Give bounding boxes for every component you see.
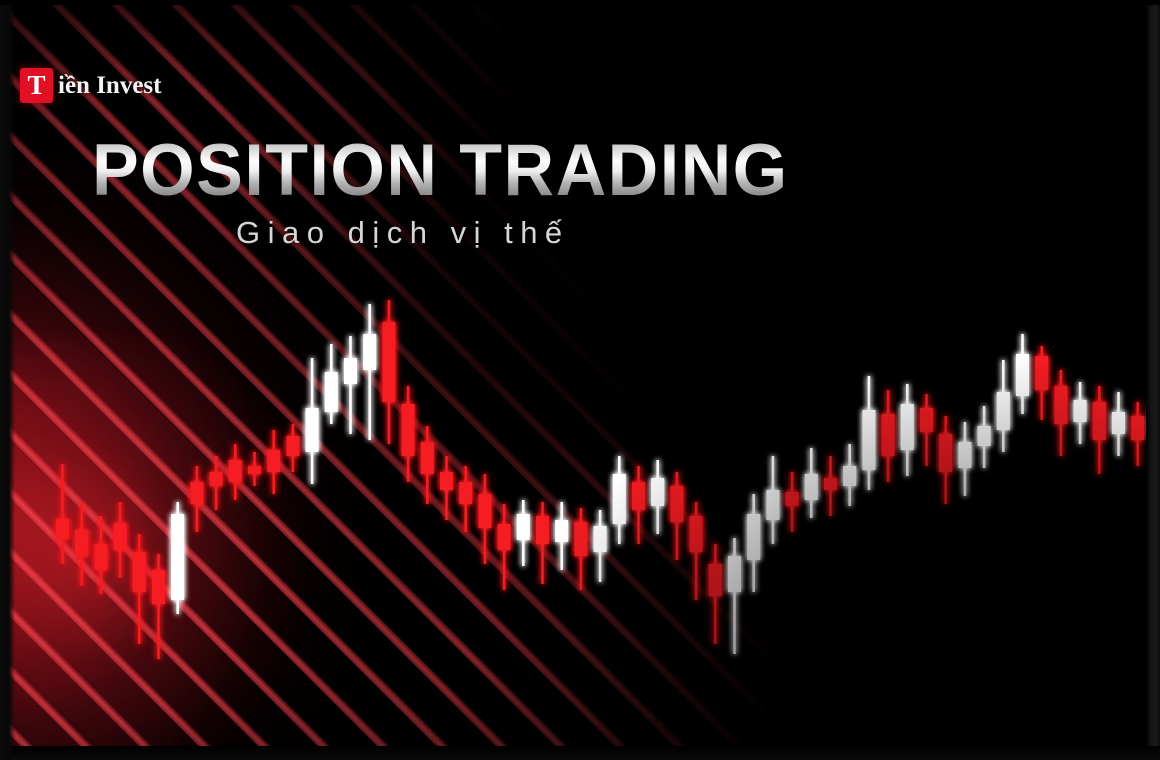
logo-wordmark: iền Invest <box>58 73 161 98</box>
brand-logo[interactable]: T iền Invest <box>20 66 171 105</box>
page-subtitle: Giao dịch vị thế <box>236 216 570 250</box>
poster-canvas: T iền Invest POSITION TRADING Giao dịch … <box>0 0 1160 760</box>
frame-edge-bottom <box>0 746 1160 760</box>
logo-mark-letter: T <box>27 72 45 99</box>
logo-mark-icon: T <box>20 68 53 103</box>
page-title-text: POSITION TRADING <box>92 134 789 208</box>
page-subtitle-text: Giao dịch vị thế <box>236 216 570 250</box>
art-panel: T iền Invest POSITION TRADING Giao dịch … <box>0 4 1146 748</box>
frame-edge-top <box>0 0 1160 5</box>
frame-edge-left <box>0 0 15 760</box>
diagonal-stripes-mid <box>0 4 1146 748</box>
frame-edge-right <box>1146 0 1160 760</box>
page-title: POSITION TRADING <box>92 134 818 208</box>
